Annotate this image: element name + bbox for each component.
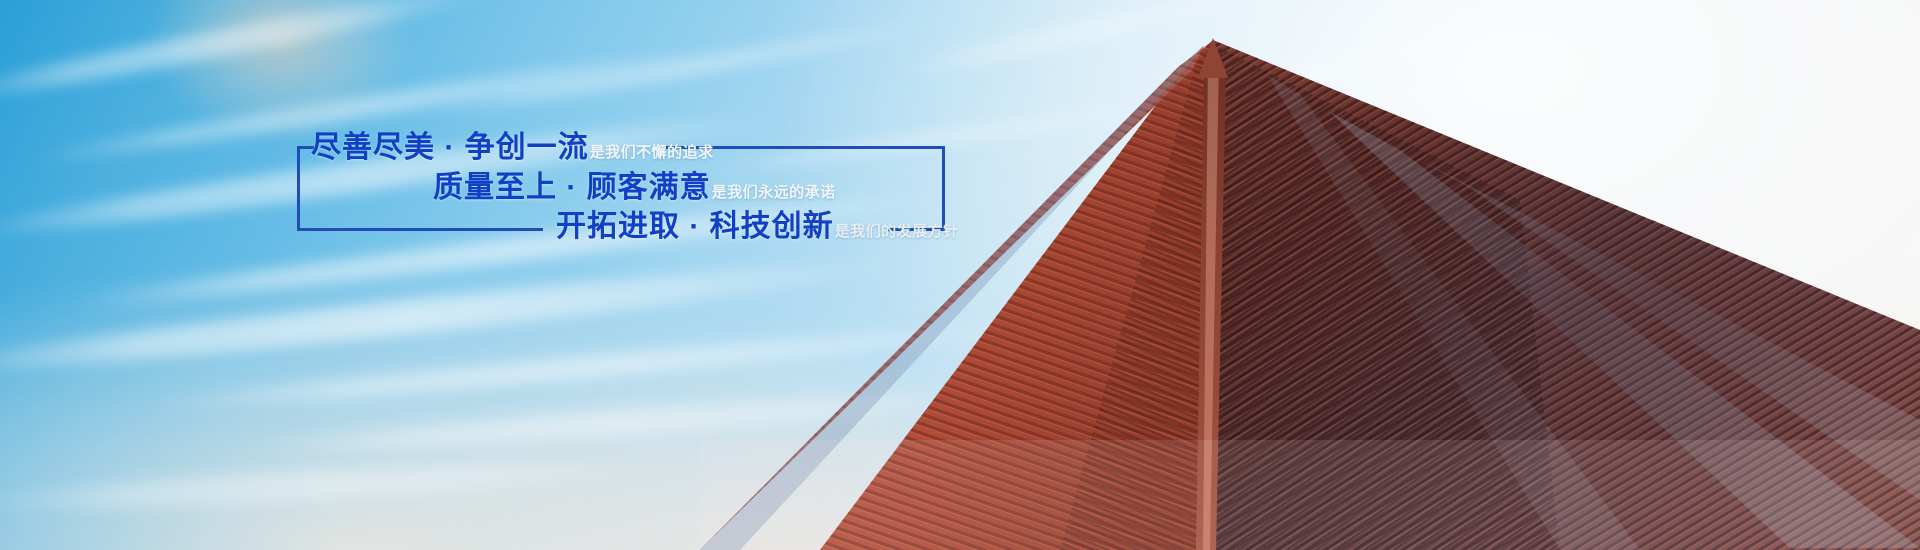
- frame-left-edge: [297, 146, 300, 231]
- slogan-line-1: 尽善尽美 · 争创一流是我们不懈的追求: [311, 133, 714, 163]
- frame-bottom-edge: [297, 228, 543, 231]
- slogan-line-2-sub: 是我们永远的承诺: [712, 184, 836, 201]
- slogan-line-3-main: 开拓进取 · 科技创新: [556, 210, 834, 243]
- slogan-line-1-sub: 是我们不懈的追求: [590, 144, 714, 161]
- slogan-line-1-main: 尽善尽美 · 争创一流: [311, 131, 589, 164]
- slogan-line-2: 质量至上 · 顾客满意是我们永远的承诺: [433, 173, 836, 203]
- slogan-line-2-main: 质量至上 · 顾客满意: [433, 171, 711, 204]
- hero-banner: 尽善尽美 · 争创一流是我们不懈的追求 质量至上 · 顾客满意是我们永远的承诺 …: [0, 0, 1920, 550]
- slogan-block: 尽善尽美 · 争创一流是我们不懈的追求 质量至上 · 顾客满意是我们永远的承诺 …: [0, 0, 1920, 550]
- slogan-line-3-sub: 是我们的发展方针: [835, 223, 959, 240]
- slogan-line-3: 开拓进取 · 科技创新是我们的发展方针: [556, 212, 959, 242]
